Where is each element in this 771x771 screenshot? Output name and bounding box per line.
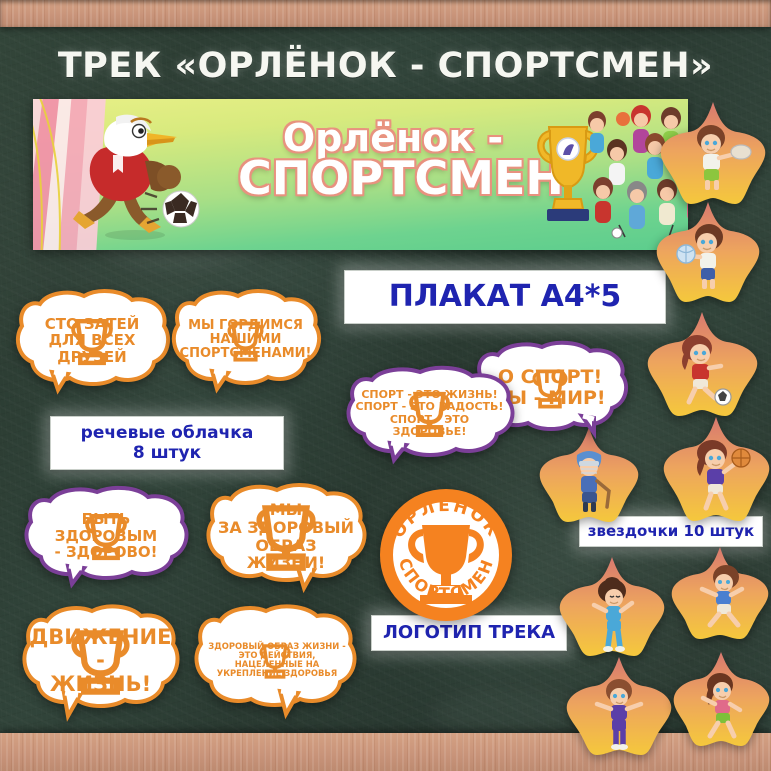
bubble-sport-eto[interactable]: СПОРТ - ЭТО ЖИЗНЬ! СПОРТ - ЭТО РАДОСТЬ! … (342, 367, 517, 460)
page-title: ТРЕК «ОРЛЁНОК - СПОРТСМЕН» (0, 46, 771, 86)
bubble-dvizhenie[interactable]: ДВИЖЕНИЕ - ЖИЗНЬ! (18, 605, 183, 717)
stars-count-text: звездочки 10 штук (588, 523, 754, 541)
star-8[interactable] (565, 655, 673, 759)
bubble-content: ДВИЖЕНИЕ - ЖИЗНЬ! (18, 626, 183, 695)
poster-banner[interactable]: Орлёнок - СПОРТСМЕН (33, 99, 688, 250)
bubble-content: ЗДОРОВЫЙ ОБРАЗ ЖИЗНИ - ЭТО ДЕЙСТВИЯ, НАЦ… (190, 642, 360, 679)
bubble-my-za[interactable]: МЫ ЗА ЗДОРОВЫЙ ОБРАЗ ЖИЗНИ! (202, 484, 370, 589)
eagle-mascot-icon (61, 111, 201, 243)
bubbles-count-line1: речевые облачка (81, 423, 254, 443)
star-9[interactable] (672, 650, 771, 750)
bubble-content: БЫТЬ ЗДОРОВЫМ - ЗДОРОВО! (20, 511, 192, 561)
star-3[interactable] (645, 310, 760, 420)
bubble-byt-zdorovym[interactable]: БЫТЬ ЗДОРОВЫМ - ЗДОРОВО! (20, 487, 192, 585)
star-7[interactable] (670, 545, 770, 643)
star-5[interactable] (537, 425, 641, 525)
star-6[interactable] (558, 555, 666, 660)
star-4[interactable] (662, 415, 771, 525)
star-1[interactable] (657, 100, 769, 208)
bubble-zdorovyy-obraz[interactable]: ЗДОРОВЫЙ ОБРАЗ ЖИЗНИ - ЭТО ДЕЙСТВИЯ, НАЦ… (190, 605, 360, 715)
star-2[interactable] (653, 200, 763, 306)
boy-gymnast-icon (625, 294, 649, 318)
track-logo[interactable]: ОРЛЁНОК СПОРТСМЕН (376, 485, 516, 625)
banner-title: Орлёнок - СПОРТСМЕН (238, 119, 548, 201)
bubble-content: МЫ ЗА ЗДОРОВЫЙ ОБРАЗ ЖИЗНИ! (202, 501, 370, 571)
bubble-content: СТО ЗАТЕЙ ДЛЯ ВСЕХ ДРУЗЕЙ (12, 316, 172, 366)
bubble-sto-zatey[interactable]: СТО ЗАТЕЙ ДЛЯ ВСЕХ ДРУЗЕЙ (12, 290, 172, 391)
poster-label: ПЛАКАТ А4*5 (344, 270, 666, 324)
banner-title-line2: СПОРТСМЕН (238, 155, 548, 201)
bubbles-count-line2: 8 штук (133, 443, 201, 463)
bubble-my-gordimsya[interactable]: МЫ ГОРДИМСЯ НАШИМИ СПОРТСМЕНАМИ! (168, 290, 323, 390)
board-frame-top (0, 0, 771, 27)
logo-label-text: ЛОГОТИП ТРЕКА (383, 622, 555, 643)
poster-canvas: ТРЕК «ОРЛЁНОК - СПОРТСМЕН» (0, 0, 771, 771)
bubble-content: СПОРТ - ЭТО ЖИЗНЬ! СПОРТ - ЭТО РАДОСТЬ! … (342, 389, 517, 437)
bubble-content: МЫ ГОРДИМСЯ НАШИМИ СПОРТСМЕНАМИ! (168, 319, 323, 362)
bubbles-count-label: речевые облачка 8 штук (50, 416, 284, 470)
